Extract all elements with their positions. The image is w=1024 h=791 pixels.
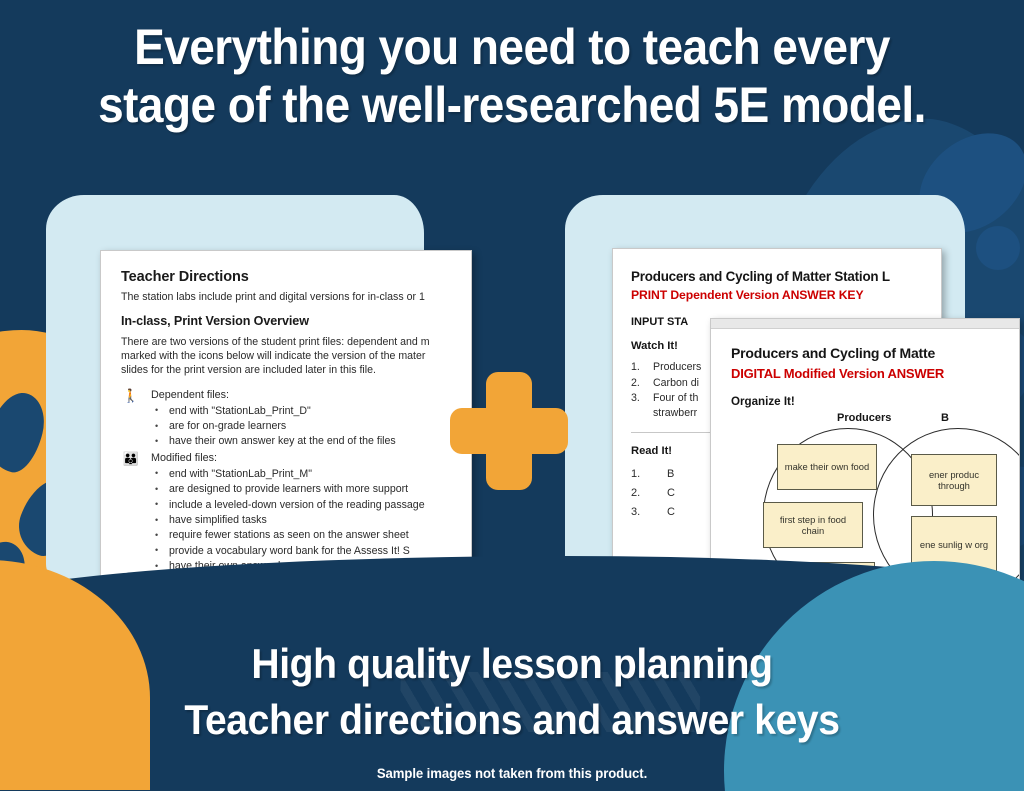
document-body: Teacher Directions The station labs incl… xyxy=(101,251,471,586)
headline-line-1: Everything you need to teach every xyxy=(41,18,983,76)
disclaimer-text: Sample images not taken from this produc… xyxy=(31,765,994,781)
running-person-icon: 🚶 xyxy=(121,389,141,402)
plus-horizontal-bar xyxy=(450,408,568,454)
headline: Everything you need to teach every stage… xyxy=(41,18,983,134)
file-group-dependent: 🚶 Dependent files: end with "StationLab_… xyxy=(121,389,455,450)
document-teacher-directions[interactable]: Teacher Directions The station labs incl… xyxy=(100,250,472,586)
list-item: are for on-grade learners xyxy=(155,419,455,434)
two-people-icon: 👪 xyxy=(121,452,141,465)
decorative-teardrop-2 xyxy=(0,387,51,477)
list-item: have their own answer key at the end of … xyxy=(155,434,455,449)
list-item: include a leveled-down version of the re… xyxy=(155,498,455,513)
file-group-label: Dependent files: xyxy=(151,389,229,401)
headline-line-2: stage of the well-researched 5E model. xyxy=(41,76,983,134)
document-paragraph: There are two versions of the student pr… xyxy=(121,335,455,378)
venn-box: ene sunlig w org xyxy=(911,516,997,574)
list-item: require fewer stations as seen on the an… xyxy=(155,528,455,543)
answer-text: Four of th xyxy=(653,392,698,404)
venn-box: make their own food xyxy=(777,444,877,490)
footer-headline: High quality lesson planning Teacher dir… xyxy=(36,636,988,748)
footer-line-2: Teacher directions and answer keys xyxy=(36,692,988,748)
document-title: Producers and Cycling of Matte xyxy=(731,345,1005,361)
list-item: have their own answer key at the end of … xyxy=(155,559,455,574)
plus-sign-badge xyxy=(450,372,568,490)
venn-box: ener produc through xyxy=(911,454,997,506)
paragraph-line-2: marked with the icons below will indicat… xyxy=(121,349,455,363)
list-item: provide a vocabulary word bank for the A… xyxy=(155,544,455,559)
list-item: end with "StationLab_Print_D" xyxy=(155,404,455,419)
document-subtitle: PRINT Dependent Version ANSWER KEY xyxy=(631,288,927,302)
document-body: Producers and Cycling of Matte DIGITAL M… xyxy=(711,329,1019,586)
venn-box: first step in food chain xyxy=(763,502,863,548)
file-group-items: end with "StationLab_Print_M" are design… xyxy=(155,467,455,575)
section-heading-organize-it: Organize It! xyxy=(731,395,1005,408)
promo-graphic-canvas: Everything you need to teach every stage… xyxy=(0,0,1024,791)
venn-label-left: Producers xyxy=(837,412,891,424)
document-top-bar xyxy=(711,319,1019,329)
paragraph-line-3: slides for the print version are include… xyxy=(121,363,455,377)
file-group-label: Modified files: xyxy=(151,452,217,464)
file-group-heading: 🚶 Dependent files: xyxy=(121,389,455,402)
document-digital-answer-key[interactable]: Producers and Cycling of Matte DIGITAL M… xyxy=(710,318,1020,586)
decorative-oval-d xyxy=(976,226,1020,270)
list-item: are designed to provide learners with mo… xyxy=(155,482,455,497)
document-subtitle: DIGITAL Modified Version ANSWER xyxy=(731,366,1005,381)
venn-box xyxy=(775,562,875,586)
file-group-heading: 👪 Modified files: xyxy=(121,452,455,465)
file-group-modified: 👪 Modified files: end with "StationLab_P… xyxy=(121,452,455,575)
file-group-items: end with "StationLab_Print_D" are for on… xyxy=(155,404,455,450)
venn-diagram: Producers B make their own food first st… xyxy=(745,412,1020,586)
document-lead-text: The station labs include print and digit… xyxy=(121,290,455,304)
decorative-teardrop-4 xyxy=(0,533,34,618)
list-item: have simplified tasks xyxy=(155,513,455,528)
footer-line-1: High quality lesson planning xyxy=(36,636,988,692)
paragraph-line-1: There are two versions of the student pr… xyxy=(121,335,455,349)
document-subheading: In-class, Print Version Overview xyxy=(121,314,455,328)
list-item: end with "StationLab_Print_M" xyxy=(155,467,455,482)
venn-label-right: B xyxy=(941,412,949,424)
document-title: Producers and Cycling of Matter Station … xyxy=(631,269,927,284)
document-title: Teacher Directions xyxy=(121,269,455,285)
